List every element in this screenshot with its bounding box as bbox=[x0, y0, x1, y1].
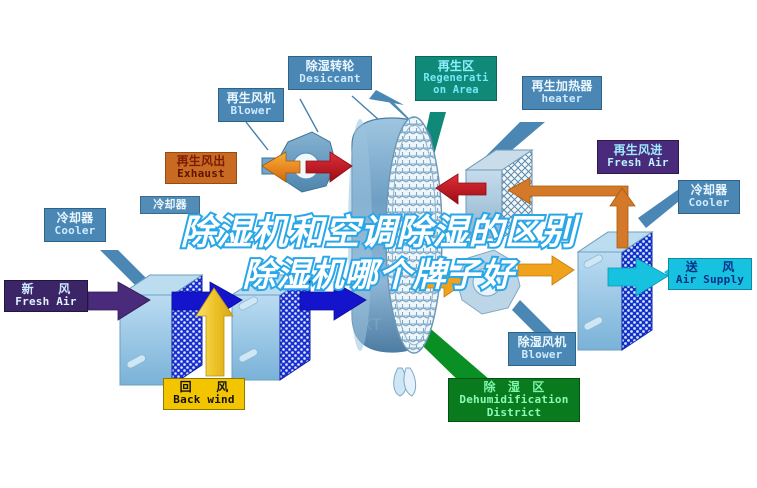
label-dehum-district-cn: 除 湿 区 bbox=[453, 381, 575, 394]
label-dehum-district-en2: District bbox=[453, 407, 575, 419]
label-cooler-left-cn: 冷却器 bbox=[49, 212, 101, 225]
label-dehum-blower-cn: 除湿风机 bbox=[513, 336, 571, 349]
label-regen-area-cn: 再生区 bbox=[419, 60, 493, 73]
label-regen-area[interactable]: 再生区 Regenerati on Area bbox=[415, 56, 497, 101]
label-regen-blower-cn: 再生风机 bbox=[223, 92, 279, 105]
label-regen-heater-cn: 再生加热器 bbox=[527, 80, 597, 93]
arrow-orange-fresh-in bbox=[508, 178, 628, 204]
label-regen-heater[interactable]: 再生加热器 heater bbox=[522, 76, 602, 110]
label-desiccant-en: Desiccant bbox=[293, 73, 367, 85]
label-fresh-air[interactable]: 新 风 Fresh Air bbox=[4, 280, 88, 312]
label-regen-fresh-air[interactable]: 再生风进 Fresh Air bbox=[597, 140, 679, 174]
label-air-supply-en: Air Supply bbox=[672, 274, 748, 286]
label-cooler-left[interactable]: 冷却器 Cooler bbox=[44, 208, 106, 242]
label-back-wind[interactable]: 回 风 Back wind bbox=[163, 378, 245, 410]
label-cooler-right-en: Cooler bbox=[683, 197, 735, 209]
watermark-text: XT bbox=[362, 315, 382, 334]
desiccant-rotor bbox=[348, 117, 442, 396]
label-dehum-blower-en: Blower bbox=[513, 349, 571, 361]
arrow-gold-2 bbox=[518, 256, 574, 285]
label-back-wind-cn: 回 风 bbox=[168, 381, 240, 394]
label-regen-blower[interactable]: 再生风机 Blower bbox=[218, 88, 284, 122]
label-air-supply-cn: 送 风 bbox=[672, 261, 748, 274]
label-regen-fresh-air-en: Fresh Air bbox=[602, 157, 674, 169]
label-regen-blower-en: Blower bbox=[223, 105, 279, 117]
label-desiccant-cn: 除湿转轮 bbox=[293, 60, 367, 73]
label-dehum-blower[interactable]: 除湿风机 Blower bbox=[508, 332, 576, 366]
diagram-canvas: XT 除湿机和空调除湿的区别 除湿机哪个牌子好 除湿转轮 Desiccant 再… bbox=[0, 0, 757, 488]
label-fresh-air-cn: 新 风 bbox=[9, 283, 83, 296]
leader-desiccant bbox=[369, 90, 404, 105]
label-desiccant[interactable]: 除湿转轮 Desiccant bbox=[288, 56, 372, 90]
label-cooler-mid-cn: 冷却器 bbox=[145, 199, 195, 211]
label-cooler-mid[interactable]: 冷却器 bbox=[140, 196, 200, 214]
leader-dehum-blower bbox=[512, 300, 556, 336]
label-regen-area-en2: on Area bbox=[419, 85, 493, 97]
label-air-supply[interactable]: 送 风 Air Supply bbox=[668, 258, 752, 290]
label-back-wind-en: Back wind bbox=[168, 394, 240, 406]
label-exhaust-en: Exhaust bbox=[169, 168, 233, 180]
label-exhaust-cn: 再生风出 bbox=[169, 155, 233, 168]
label-cooler-right[interactable]: 冷却器 Cooler bbox=[678, 180, 740, 214]
label-exhaust[interactable]: 再生风出 Exhaust bbox=[165, 152, 237, 184]
label-cooler-left-en: Cooler bbox=[49, 225, 101, 237]
label-regen-heater-en: heater bbox=[527, 93, 597, 105]
label-dehum-district-en1: Dehumidification bbox=[453, 394, 575, 406]
label-fresh-air-en: Fresh Air bbox=[9, 296, 83, 308]
label-dehum-district[interactable]: 除 湿 区 Dehumidification District bbox=[448, 378, 580, 422]
schematic-artwork: XT bbox=[0, 0, 757, 488]
label-cooler-right-cn: 冷却器 bbox=[683, 184, 735, 197]
label-regen-fresh-air-cn: 再生风进 bbox=[602, 144, 674, 157]
cooler-mid-unit bbox=[232, 275, 310, 380]
